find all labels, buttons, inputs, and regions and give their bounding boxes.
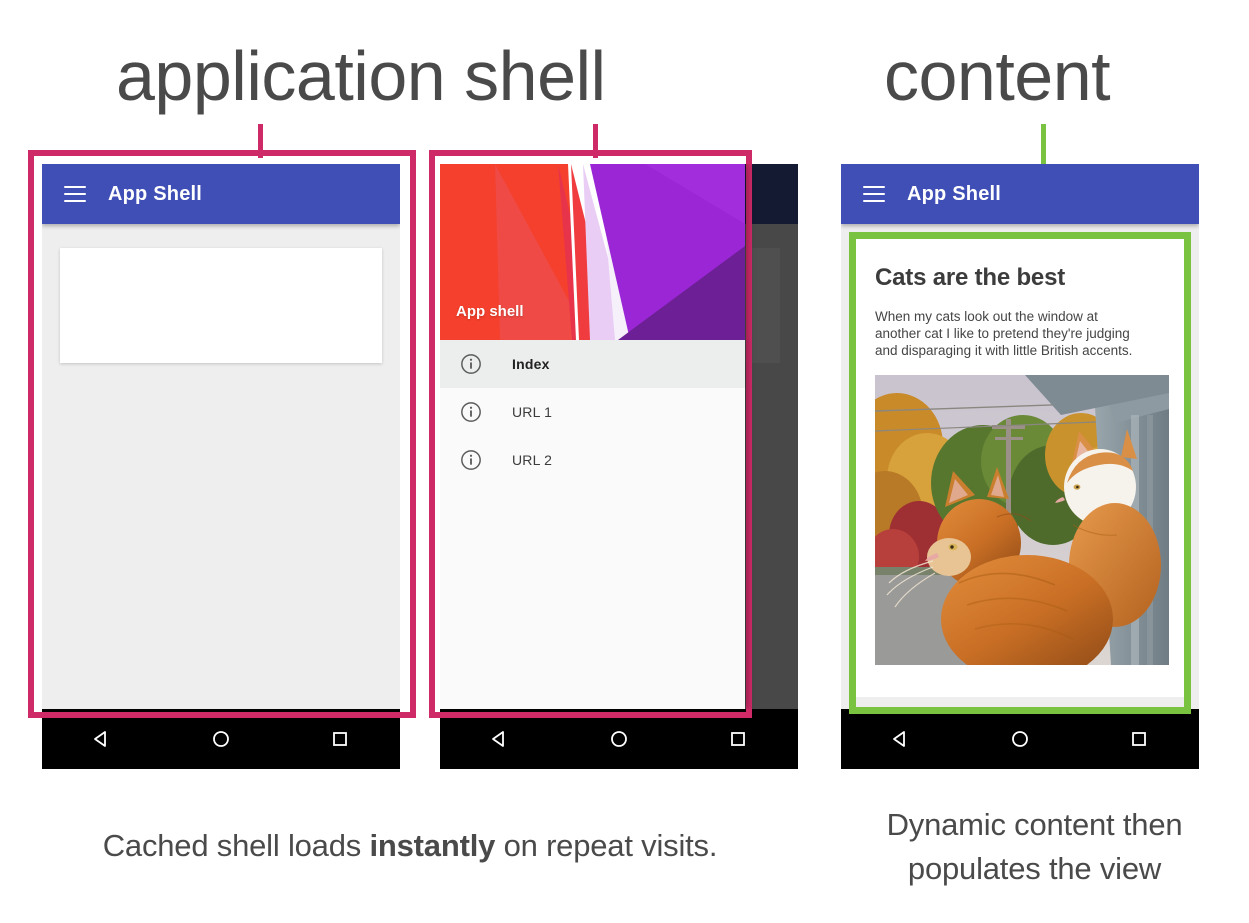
caption-left-part2: on repeat visits. xyxy=(495,828,717,863)
annotation-label-application-shell: application shell xyxy=(116,36,606,116)
drawer-item-url-1[interactable]: URL 1 xyxy=(440,388,745,436)
home-circle-icon[interactable] xyxy=(1000,719,1040,759)
hamburger-icon[interactable] xyxy=(64,186,86,202)
drawer-item-label: Index xyxy=(512,356,550,372)
recents-square-icon[interactable] xyxy=(320,719,360,759)
drawer-item-list: Index URL 1 xyxy=(440,340,745,484)
caption-right-line1: Dynamic content then xyxy=(820,803,1249,847)
cats-in-window-photo xyxy=(875,375,1169,665)
hamburger-icon[interactable] xyxy=(863,186,885,202)
drawer-item-index[interactable]: Index xyxy=(440,340,745,388)
phone2-android-nav-bar xyxy=(440,709,798,769)
article-body-text: When my cats look out the window at anot… xyxy=(875,308,1147,359)
caption-left-part1: Cached shell loads xyxy=(103,828,370,863)
drawer-item-label: URL 2 xyxy=(512,452,552,468)
phone1-app-bar-title: App Shell xyxy=(108,183,202,206)
info-icon xyxy=(460,353,482,375)
phone1-screen: App Shell xyxy=(42,164,400,709)
back-triangle-icon[interactable] xyxy=(480,719,520,759)
navigation-drawer: App shell Index xyxy=(440,164,745,709)
caption-right-line2: populates the view xyxy=(820,847,1249,891)
article-photo xyxy=(875,375,1169,665)
recents-square-icon[interactable] xyxy=(718,719,758,759)
info-icon xyxy=(460,449,482,471)
article-card: Cats are the best When my cats look out … xyxy=(853,236,1187,697)
drawer-header-title: App shell xyxy=(456,303,524,320)
caption-dynamic-content: Dynamic content then populates the view xyxy=(820,803,1249,891)
connector-line-shell-phone1 xyxy=(258,124,263,158)
home-circle-icon[interactable] xyxy=(201,719,241,759)
back-triangle-icon[interactable] xyxy=(82,719,122,759)
connector-line-shell-phone2 xyxy=(593,124,598,158)
phone3-android-nav-bar xyxy=(841,709,1199,769)
drawer-item-url-2[interactable]: URL 2 xyxy=(440,436,745,484)
phone1-app-bar: App Shell xyxy=(42,164,400,224)
drawer-item-label: URL 1 xyxy=(512,404,552,420)
article-title: Cats are the best xyxy=(875,264,1165,292)
phone3-app-bar-title: App Shell xyxy=(907,183,1001,206)
phone3-screen: App Shell Cats are the best When my cats… xyxy=(841,164,1199,709)
phone1-android-nav-bar xyxy=(42,709,400,769)
caption-left-emphasis: instantly xyxy=(369,828,495,863)
phone2-screen: App shell Index xyxy=(440,164,798,709)
caption-cached-shell: Cached shell loads instantly on repeat v… xyxy=(0,828,820,864)
phone-mockup-empty-shell: App Shell xyxy=(42,164,400,769)
phone3-content-area: Cats are the best When my cats look out … xyxy=(841,224,1199,709)
home-circle-icon[interactable] xyxy=(599,719,639,759)
phone-mockup-loaded-content: App Shell Cats are the best When my cats… xyxy=(841,164,1199,769)
back-triangle-icon[interactable] xyxy=(881,719,921,759)
phone3-app-bar: App Shell xyxy=(841,164,1199,224)
annotation-label-content: content xyxy=(884,36,1110,116)
phone1-content-area xyxy=(42,224,400,709)
drawer-header-image: App shell xyxy=(440,164,745,340)
phone-mockup-nav-drawer: App shell Index xyxy=(440,164,798,769)
info-icon xyxy=(460,401,482,423)
empty-content-placeholder-card xyxy=(60,248,382,363)
recents-square-icon[interactable] xyxy=(1119,719,1159,759)
